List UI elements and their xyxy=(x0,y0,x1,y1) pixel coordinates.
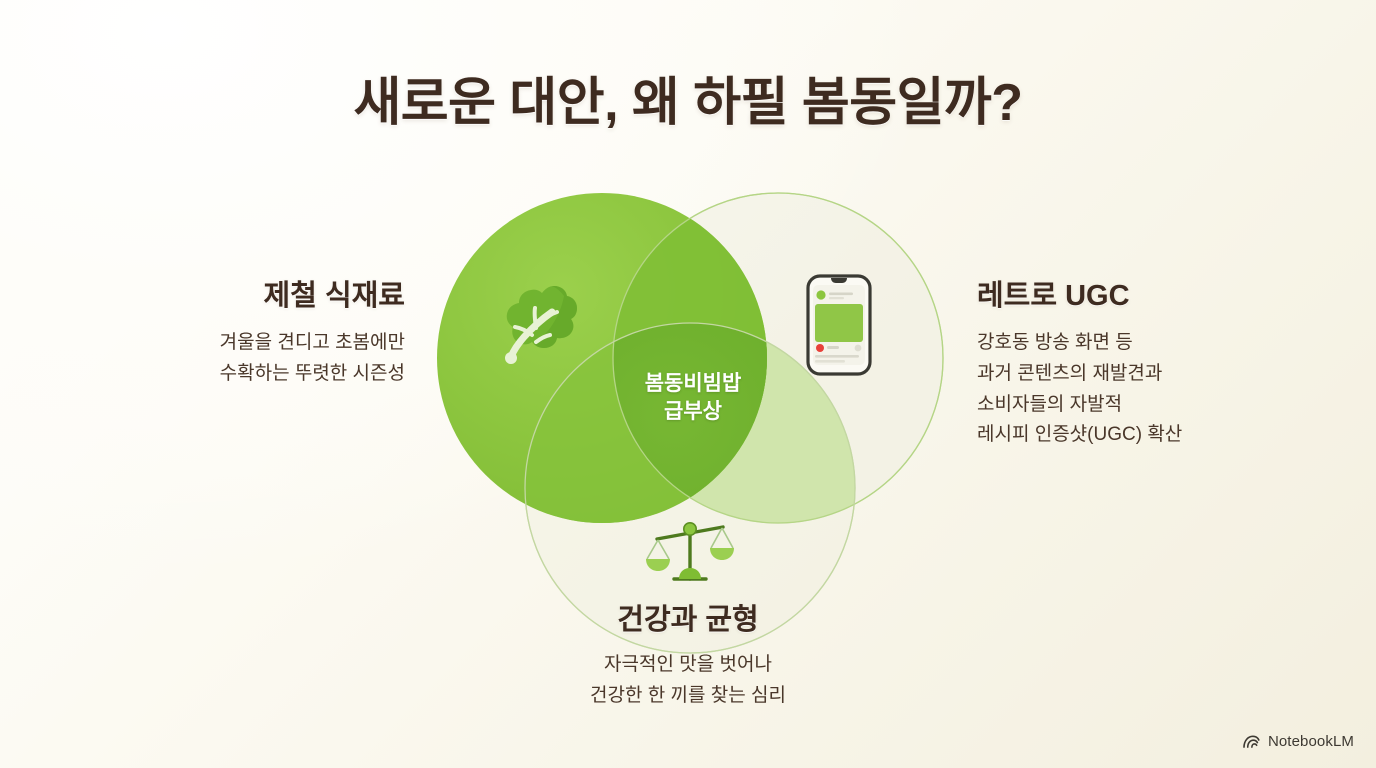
block-retro-ugc: 레트로 UGC 강호동 방송 화면 등 과거 콘텐츠의 재발견과 소비자들의 자… xyxy=(977,272,1357,451)
notebooklm-label: NotebookLM xyxy=(1268,733,1354,750)
block-bottom-body-line: 건강한 한 끼를 찾는 심리 xyxy=(488,681,888,712)
block-left-body-line: 수확하는 뚜렷한 시즌성 xyxy=(20,359,405,390)
block-right-body: 강호동 방송 화면 등 과거 콘텐츠의 재발견과 소비자들의 자발적 레시피 인… xyxy=(977,328,1357,451)
block-left-body-line: 겨울을 견디고 초봄에만 xyxy=(20,328,405,359)
notebooklm-logo-icon xyxy=(1242,734,1261,749)
block-bottom-body: 자극적인 맛을 벗어나 건강한 한 끼를 찾는 심리 xyxy=(488,650,888,712)
block-right-body-line: 소비자들의 자발적 xyxy=(977,390,1357,421)
block-right-body-line: 과거 콘텐츠의 재발견과 xyxy=(977,359,1357,390)
block-right-title: 레트로 UGC xyxy=(977,272,1357,314)
leaf-icon xyxy=(492,272,588,368)
smartphone-icon xyxy=(806,274,872,376)
block-health-balance: 건강과 균형 자극적인 맛을 벗어나 건강한 한 끼를 찾는 심리 xyxy=(488,596,888,712)
notebooklm-watermark: NotebookLM xyxy=(1242,733,1354,750)
block-left-body: 겨울을 견디고 초봄에만 수확하는 뚜렷한 시즌성 xyxy=(20,328,405,390)
slide-canvas: 새로운 대안, 왜 하필 봄동일까? xyxy=(0,0,1376,768)
venn-diagram xyxy=(430,170,950,670)
block-seasonal-ingredient: 제철 식재료 겨울을 견디고 초봄에만 수확하는 뚜렷한 시즌성 xyxy=(20,272,405,390)
page-title: 새로운 대안, 왜 하필 봄동일까? xyxy=(0,60,1376,135)
balance-scale-icon xyxy=(642,515,738,593)
block-left-title: 제철 식재료 xyxy=(20,272,405,314)
block-right-body-line: 레시피 인증샷(UGC) 확산 xyxy=(977,420,1357,451)
block-right-body-line: 강호동 방송 화면 등 xyxy=(977,328,1357,359)
block-bottom-body-line: 자극적인 맛을 벗어나 xyxy=(488,650,888,681)
block-bottom-title: 건강과 균형 xyxy=(488,596,888,638)
